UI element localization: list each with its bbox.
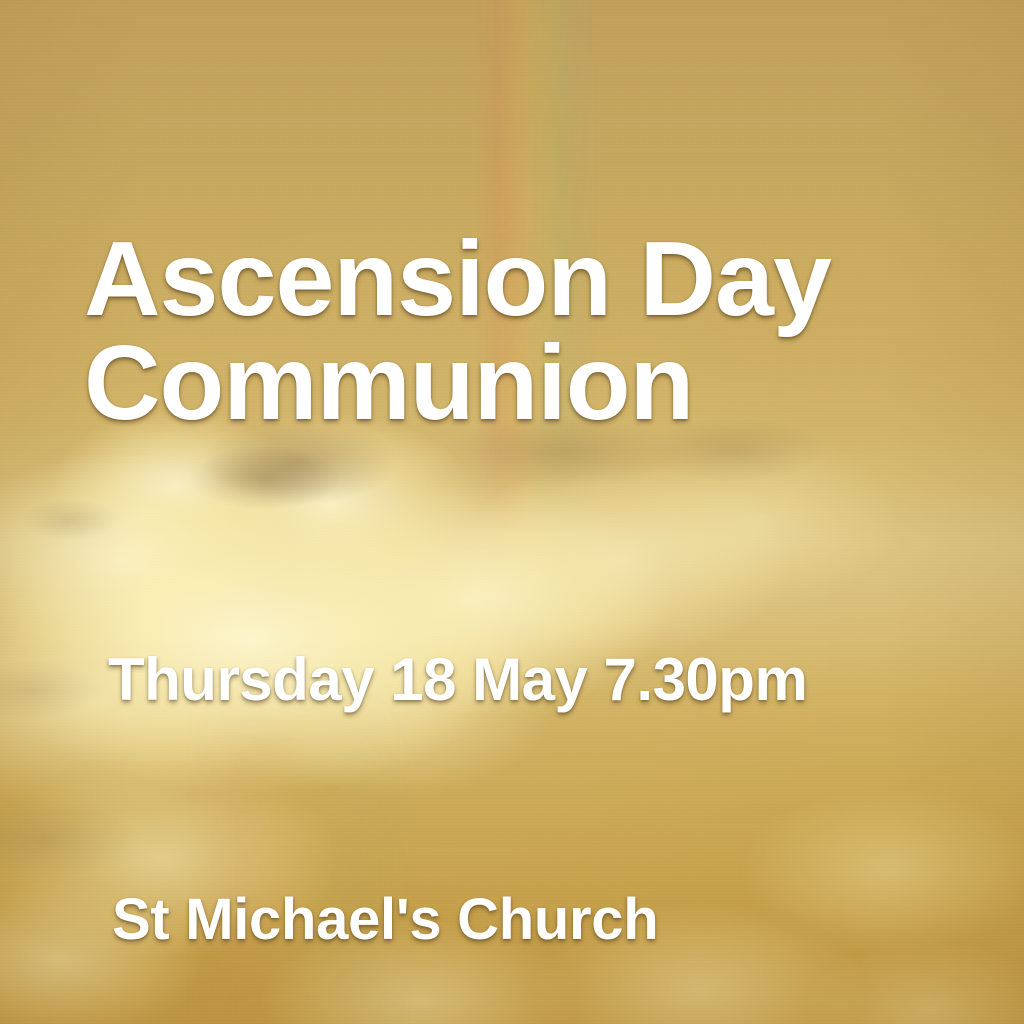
poster-text-layer: Ascension Day Communion Thursday 18 May … — [0, 0, 1024, 1024]
poster-date-time: Thursday 18 May 7.30pm — [108, 648, 807, 711]
poster-headline: Ascension Day Communion — [84, 228, 984, 436]
poster-venue: St Michael's Church — [112, 890, 658, 951]
event-poster: Ascension Day Communion Thursday 18 May … — [0, 0, 1024, 1024]
